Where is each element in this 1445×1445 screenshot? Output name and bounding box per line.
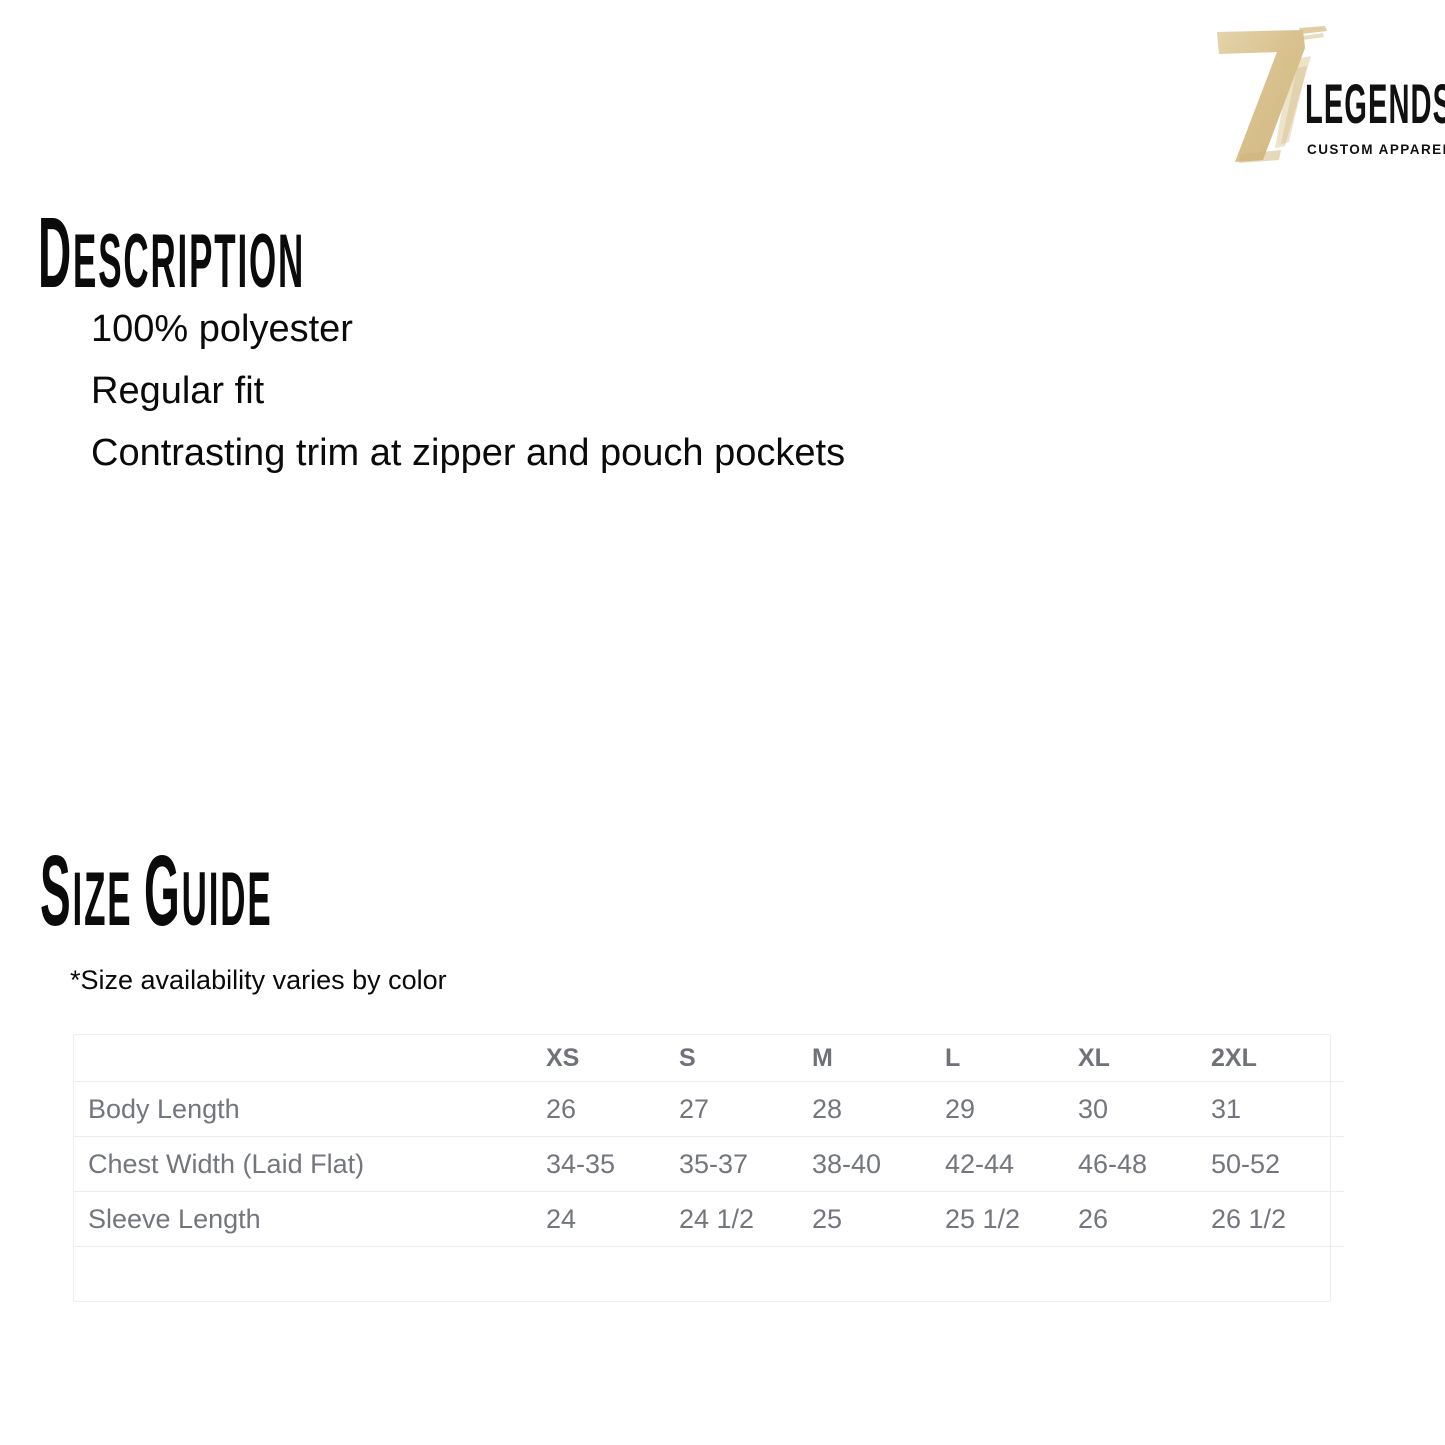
column-header-m: M [812, 1035, 945, 1082]
list-item: Contrasting trim at zipper and pouch poc… [91, 422, 845, 484]
table-corner-cell [74, 1035, 546, 1082]
cell-chest-width-s: 35-37 [679, 1137, 812, 1192]
table-row: Sleeve Length 24 24 1/2 25 25 1/2 26 26 … [74, 1192, 1344, 1247]
size-guide-heading-rest2: UIDE [182, 857, 273, 942]
table-row: Chest Width (Laid Flat) 34-35 35-37 38-4… [74, 1137, 1344, 1192]
column-header-s: S [679, 1035, 812, 1082]
cell-sleeve-length-xs: 24 [546, 1192, 679, 1247]
description-heading-cap: D [38, 197, 73, 309]
size-guide-heading-rest: IZE [73, 857, 144, 942]
size-guide-table: XS S M L XL 2XL Body Length 26 27 28 29 … [74, 1035, 1344, 1301]
brand-tagline: CUSTOM APPAREL [1307, 142, 1445, 157]
cell-sleeve-length-xl: 26 [1078, 1192, 1211, 1247]
cell-body-length-l: 29 [945, 1082, 1078, 1137]
row-label-sleeve-length: Sleeve Length [74, 1192, 546, 1247]
table-row: Body Length 26 27 28 29 30 31 [74, 1082, 1344, 1137]
cell-chest-width-m: 38-40 [812, 1137, 945, 1192]
cell-sleeve-length-l: 25 1/2 [945, 1192, 1078, 1247]
column-header-xs: XS [546, 1035, 679, 1082]
description-heading-rest: ESCRIPTION [73, 219, 305, 304]
cell-chest-width-2xl: 50-52 [1211, 1137, 1344, 1192]
table-header: XS S M L XL 2XL [74, 1035, 1344, 1082]
column-header-2xl: 2XL [1211, 1035, 1344, 1082]
cell-body-length-2xl: 31 [1211, 1082, 1344, 1137]
description-heading: DESCRIPTION [38, 203, 619, 303]
cell-sleeve-length-m: 25 [812, 1192, 945, 1247]
size-guide-table-container: XS S M L XL 2XL Body Length 26 27 28 29 … [73, 1034, 1331, 1302]
table-header-row: XS S M L XL 2XL [74, 1035, 1344, 1082]
cell-sleeve-length-2xl: 26 1/2 [1211, 1192, 1344, 1247]
size-availability-note: *Size availability varies by color [70, 965, 447, 996]
table-bottom-spacer [74, 1247, 1344, 1302]
cell-chest-width-xs: 34-35 [546, 1137, 679, 1192]
row-label-chest-width: Chest Width (Laid Flat) [74, 1137, 546, 1192]
cell-sleeve-length-s: 24 1/2 [679, 1192, 812, 1247]
brand-wordmark: LEGENDS [1305, 76, 1377, 134]
cell-body-length-xl: 30 [1078, 1082, 1211, 1137]
list-item: 100% polyester [91, 298, 845, 360]
size-guide-heading-cap2: G [144, 835, 182, 947]
table-spacer-cell [74, 1247, 1344, 1302]
cell-body-length-s: 27 [679, 1082, 812, 1137]
list-item: Regular fit [91, 360, 845, 422]
row-label-body-length: Body Length [74, 1082, 546, 1137]
cell-body-length-xs: 26 [546, 1082, 679, 1137]
size-guide-heading-cap: S [40, 835, 73, 947]
cell-body-length-m: 28 [812, 1082, 945, 1137]
table-body: Body Length 26 27 28 29 30 31 Chest Widt… [74, 1082, 1344, 1302]
description-list: 100% polyester Regular fit Contrasting t… [91, 298, 845, 484]
column-header-xl: XL [1078, 1035, 1211, 1082]
brand-logo: LEGENDS CUSTOM APPAREL [1207, 18, 1437, 168]
cell-chest-width-l: 42-44 [945, 1137, 1078, 1192]
size-guide-heading: SIZE GUIDE [40, 841, 545, 941]
cell-chest-width-xl: 46-48 [1078, 1137, 1211, 1192]
column-header-l: L [945, 1035, 1078, 1082]
